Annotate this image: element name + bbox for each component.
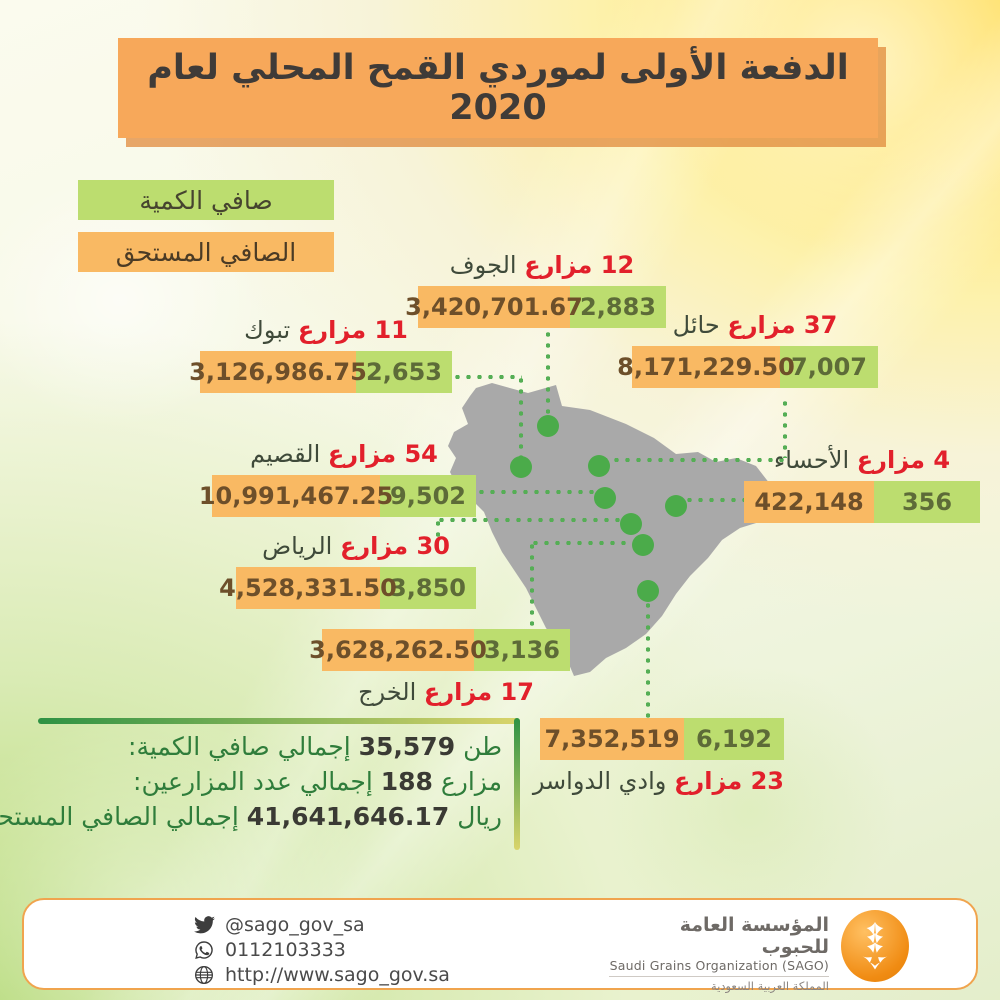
map-dot-ahsa [665,495,687,517]
connector-qassim [476,490,602,494]
region-ahsa-bars: 356 422,148 [744,481,980,523]
connector-kharj-v [530,541,534,629]
legend: صافي الكمية الصافي المستحق [78,180,334,284]
total-amount-label: إجمالي الصافي المستحق: [0,802,239,831]
region-qassim-quantity: 9,502 [380,475,476,517]
region-riyadh-farms: 30 مزارع [340,532,450,560]
globe-icon [192,965,216,985]
region-riyadh-bars: 3,850 4,528,331.50 [236,567,476,609]
region-tabuk-quantity: 2,653 [356,351,452,393]
region-ahsa-amount: 422,148 [744,481,874,523]
total-quantity-unit: طن [463,732,502,761]
contact-list: @sago_gov_sa 0112103333 http://www.sago_… [192,914,450,989]
title-box: الدفعة الأولى لموردي القمح المحلي لعام 2… [118,38,878,138]
region-tabuk-city: تبوك [244,316,290,344]
region-tabuk-farms: 11 مزارع [298,316,408,344]
region-tabuk: 11 مزارع تبوك 2,653 3,126,986.75 [200,318,452,393]
region-hail-amount: 8,171,229.50 [632,346,780,388]
total-amount-value: 41,641,646.17 [247,802,449,831]
legend-item-amount: الصافي المستحق [78,232,334,272]
legend-label-quantity: صافي الكمية [139,186,272,215]
region-tabuk-header: 11 مزارع تبوك [200,318,452,342]
map-dot-tabuk [510,456,532,478]
legend-label-amount: الصافي المستحق [116,238,296,267]
region-jouf-header: 12 مزارع الجوف [418,253,666,277]
region-dawasir-amount: 7,352,519 [540,718,684,760]
footer-panel: @sago_gov_sa 0112103333 http://www.sago_… [22,898,978,990]
region-hail-bars: 7,007 8,171,229.50 [632,346,878,388]
region-dawasir-quantity: 6,192 [684,718,784,760]
website-url: http://www.sago_gov.sa [225,964,450,986]
region-kharj: 3,136 3,628,262.50 17 مزارع الخرج [322,629,570,704]
sago-name-en: Saudi Grains Organization (SAGO) [609,958,829,973]
total-quantity-row: طن 35,579 إجمالي صافي الكمية: [38,732,502,761]
contact-website[interactable]: http://www.sago_gov.sa [192,964,450,986]
region-dawasir: 6,192 7,352,519 23 مزارع وادي الدواسر [540,718,784,793]
region-ahsa-city: الأحساء [774,446,849,474]
total-farmers-label: إجمالي عدد المزارعين: [133,767,373,796]
region-qassim: 54 مزارع القصيم 9,502 10,991,467.25 [212,442,476,517]
total-quantity-value: 35,579 [359,732,455,761]
map-dot-jouf [537,415,559,437]
region-ahsa-header: 4 مزارع الأحساء [744,448,980,472]
total-quantity-label: إجمالي صافي الكمية: [128,732,351,761]
region-riyadh-amount: 4,528,331.50 [236,567,380,609]
region-dawasir-farms: 23 مزارع [674,767,784,795]
region-riyadh-city: الرياض [262,532,332,560]
region-hail: 37 مزارع حائل 7,007 8,171,229.50 [632,313,878,388]
region-kharj-quantity: 3,136 [474,629,570,671]
contact-twitter[interactable]: @sago_gov_sa [192,914,450,936]
connector-tabuk-h [452,375,522,379]
connector-kharj-h [530,541,628,545]
region-kharj-header: 17 مزارع الخرج [322,680,570,704]
region-kharj-amount: 3,628,262.50 [322,629,474,671]
region-ahsa-quantity: 356 [874,481,980,523]
region-qassim-header: 54 مزارع القصيم [212,442,476,466]
region-dawasir-bars: 6,192 7,352,519 [540,718,784,760]
total-amount-row: ريال 41,641,646.17 إجمالي الصافي المستحق… [38,802,502,831]
region-dawasir-header: 23 مزارع وادي الدواسر [540,769,784,793]
sago-divider [609,976,829,977]
map-dot-dawasir [637,580,659,602]
region-kharj-bars: 3,136 3,628,262.50 [322,629,570,671]
infographic-canvas: الدفعة الأولى لموردي القمح المحلي لعام 2… [0,0,1000,1000]
region-qassim-amount: 10,991,467.25 [212,475,380,517]
region-jouf-bars: 2,883 3,420,701.67 [418,286,666,328]
region-dawasir-city: وادي الدواسر [533,767,667,795]
total-amount-unit: ريال [457,802,502,831]
region-qassim-city: القصيم [250,440,320,468]
total-farmers-row: مزارع 188 إجمالي عدد المزارعين: [38,767,502,796]
totals-right-rule [514,718,520,850]
sago-logo-text: المؤسسة العامة للحبوب Saudi Grains Organ… [609,914,829,993]
connector-jouf [546,318,550,416]
region-tabuk-amount: 3,126,986.75 [200,351,356,393]
connector-dawasir [646,600,650,718]
region-jouf: 12 مزارع الجوف 2,883 3,420,701.67 [418,253,666,328]
page-title: الدفعة الأولى لموردي القمح المحلي لعام 2… [118,38,878,138]
map-dot-qassim [594,487,616,509]
totals-panel: طن 35,579 إجمالي صافي الكمية: مزارع 188 … [38,718,520,850]
region-kharj-city: الخرج [358,678,416,706]
region-qassim-bars: 9,502 10,991,467.25 [212,475,476,517]
map-dot-hail [588,455,610,477]
region-ahsa: 4 مزارع الأحساء 356 422,148 [744,448,980,523]
region-qassim-farms: 54 مزارع [328,440,438,468]
sago-name-ar: المؤسسة العامة للحبوب [609,914,829,958]
region-hail-header: 37 مزارع حائل [632,313,878,337]
twitter-handle: @sago_gov_sa [225,914,365,936]
totals-top-rule [38,718,520,724]
sago-country: المملكة العربية السعودية [609,979,829,993]
region-riyadh: 30 مزارع الرياض 3,850 4,528,331.50 [236,534,476,609]
whatsapp-number: 0112103333 [225,939,346,961]
whatsapp-icon [192,940,216,960]
decor-swirl-left [0,120,330,480]
region-kharj-farms: 17 مزارع [424,678,534,706]
region-ahsa-farms: 4 مزارع [857,446,950,474]
total-farmers-unit: مزارع [441,767,502,796]
map-dot-riyadh [620,513,642,535]
region-jouf-farms: 12 مزارع [524,251,634,279]
map-dot-kharj [632,534,654,556]
twitter-icon [192,915,216,935]
sago-seal-icon [841,910,909,982]
region-riyadh-header: 30 مزارع الرياض [236,534,476,558]
connector-tabuk-v [519,375,523,460]
connector-riyadh-h [436,518,632,522]
legend-item-quantity: صافي الكمية [78,180,334,220]
region-jouf-city: الجوف [450,251,517,279]
total-farmers-value: 188 [381,767,433,796]
sago-logo: المؤسسة العامة للحبوب Saudi Grains Organ… [609,910,909,982]
title-text: الدفعة الأولى لموردي القمح المحلي لعام 2… [118,48,878,129]
totals-lines: طن 35,579 إجمالي صافي الكمية: مزارع 188 … [38,732,502,837]
region-hail-city: حائل [673,311,720,339]
region-tabuk-bars: 2,653 3,126,986.75 [200,351,452,393]
region-hail-farms: 37 مزارع [727,311,837,339]
contact-whatsapp[interactable]: 0112103333 [192,939,450,961]
